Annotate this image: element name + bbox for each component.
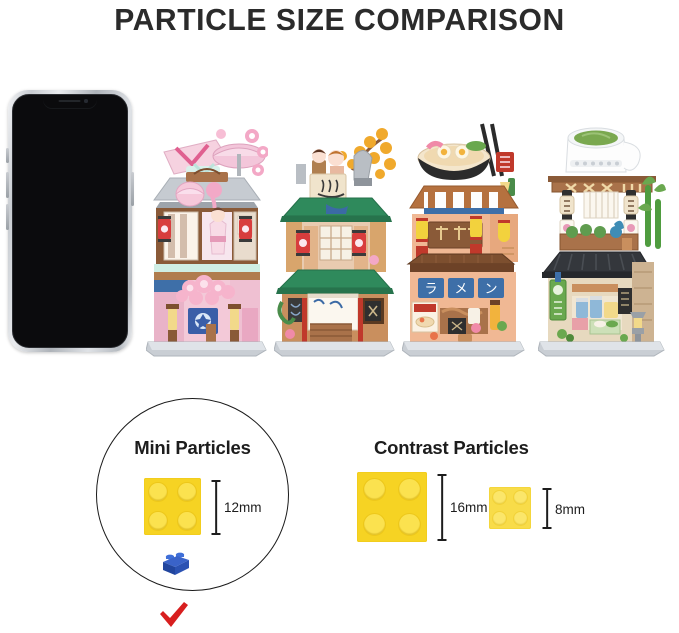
brick-16mm bbox=[357, 472, 427, 542]
phone-screen bbox=[12, 94, 128, 348]
brick-studs bbox=[489, 487, 531, 529]
svg-text:ラ: ラ bbox=[424, 282, 437, 297]
stud bbox=[514, 491, 527, 504]
dimension-label-12mm: 12mm bbox=[224, 500, 262, 515]
svg-text:メ: メ bbox=[454, 282, 467, 297]
dimension-cap-bottom bbox=[212, 533, 221, 535]
dimension-label-8mm: 8mm bbox=[555, 502, 585, 517]
dimension-cap-bottom bbox=[543, 527, 552, 529]
phone-mute-switch bbox=[6, 148, 9, 163]
stud bbox=[364, 514, 386, 536]
svg-text:ン: ン bbox=[484, 282, 497, 297]
stud bbox=[493, 512, 506, 525]
phone-speaker-icon bbox=[59, 100, 81, 102]
phone-camera-icon bbox=[84, 99, 88, 103]
phone-notch bbox=[43, 95, 97, 109]
brick-8mm bbox=[489, 487, 531, 529]
smartphone-icon bbox=[8, 90, 132, 352]
page-title: PARTICLE SIZE COMPARISON bbox=[10, 2, 669, 38]
red-checkmark-icon bbox=[157, 600, 191, 633]
stud bbox=[149, 483, 167, 501]
stud bbox=[493, 491, 506, 504]
stud bbox=[399, 514, 421, 536]
mini-particles-label: Mini Particles bbox=[96, 437, 289, 459]
brick-12mm bbox=[144, 478, 201, 535]
blue-reference-brick bbox=[159, 551, 191, 582]
dimension-bar bbox=[546, 488, 548, 529]
product-comparison-page: PARTICLE SIZE COMPARISON bbox=[0, 0, 679, 633]
model-onsen-bathhouse bbox=[274, 112, 396, 357]
dimension-line-12mm bbox=[211, 480, 221, 535]
dimension-cap-bottom bbox=[438, 539, 447, 541]
model-row: ラ メ ン bbox=[146, 112, 679, 357]
stud bbox=[399, 479, 421, 501]
stud bbox=[178, 483, 196, 501]
dimension-bar bbox=[441, 474, 443, 541]
dimension-line-8mm bbox=[542, 488, 552, 529]
stud bbox=[364, 479, 386, 501]
phone-power-button bbox=[131, 172, 134, 206]
brick-studs bbox=[144, 478, 201, 535]
model-sakura-kimono-shop bbox=[146, 112, 268, 357]
dimension-line-16mm bbox=[437, 474, 447, 541]
contrast-particles-label: Contrast Particles bbox=[374, 437, 529, 459]
model-ramen-shop: ラ メ ン bbox=[402, 112, 526, 357]
brick-studs bbox=[357, 472, 427, 542]
stud bbox=[178, 512, 196, 530]
stud bbox=[514, 512, 527, 525]
dimension-bar bbox=[215, 480, 217, 535]
model-matcha-tea-house bbox=[538, 112, 666, 357]
dimension-label-16mm: 16mm bbox=[450, 500, 488, 515]
phone-volume-up-button bbox=[6, 172, 9, 198]
stud bbox=[149, 512, 167, 530]
phone-volume-down-button bbox=[6, 204, 9, 230]
